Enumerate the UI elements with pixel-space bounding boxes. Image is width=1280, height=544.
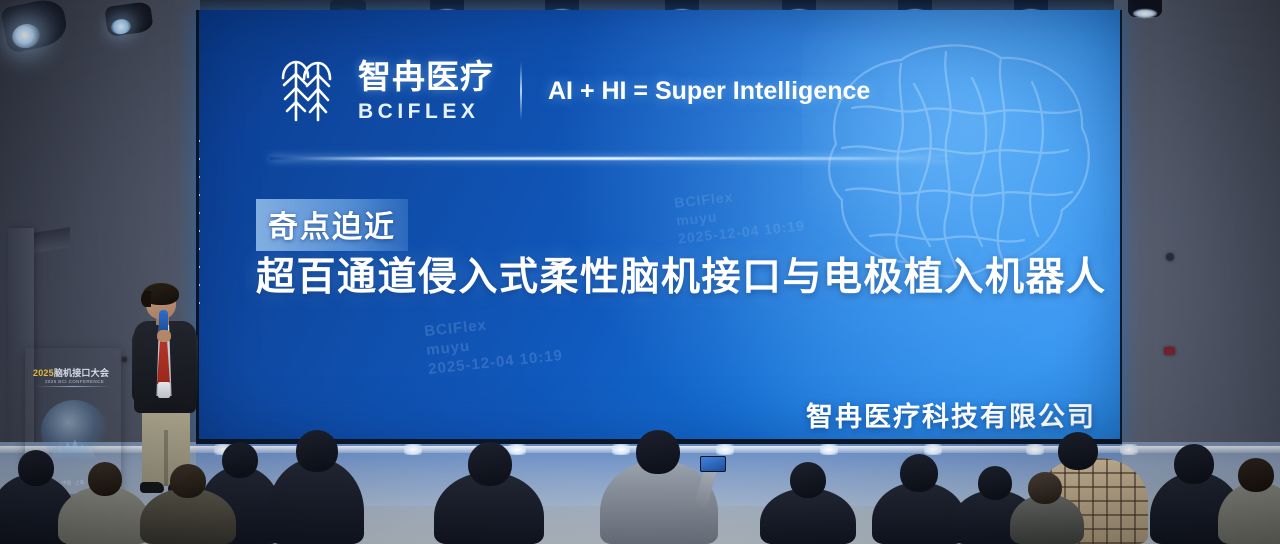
- standee-title-text: 脑机接口大会: [54, 368, 109, 378]
- brand-slogan: AI + HI = Super Intelligence: [548, 77, 870, 106]
- standee-divider: [35, 386, 111, 387]
- slide-eyebrow: 奇点迫近: [256, 199, 408, 251]
- brand-wordmark: 智冉医疗 BCIFLEX: [358, 60, 494, 122]
- audience-head: [1058, 432, 1098, 470]
- emergency-indicator-icon: [1164, 347, 1175, 355]
- standee-subtitle: 2025 BCI CONFERENCE: [45, 379, 104, 384]
- audience-head: [978, 466, 1012, 500]
- smartphone-camera-icon: [700, 456, 726, 472]
- brand-divider: [520, 62, 522, 120]
- slide-eyebrow-wrap: 奇点迫近: [256, 199, 408, 251]
- slide-company-name: 智冉医疗科技有限公司: [806, 395, 1096, 434]
- audience-head: [1174, 444, 1214, 484]
- slide-brand-header: 智冉医疗 BCIFLEX AI + HI = Super Intelligenc…: [274, 58, 870, 124]
- stage-spotlight-icon: [104, 1, 154, 37]
- brain-neuron-logo-icon: [274, 58, 336, 124]
- audience-head: [18, 450, 54, 486]
- right-wall: [1114, 0, 1280, 470]
- slide-watermark: BCIFlexmuyu2025-12-04 10:19: [674, 181, 806, 248]
- slide-main-title: 超百通道侵入式柔性脑机接口与电极植入机器人: [256, 246, 1107, 302]
- wall-sensor-icon: [1166, 253, 1174, 261]
- brand-name-cn: 智冉医疗: [358, 60, 494, 93]
- brand-name-en: BCIFLEX: [358, 101, 494, 122]
- audience-head: [636, 430, 680, 474]
- audience-head: [1238, 458, 1274, 492]
- audience-head: [790, 462, 826, 498]
- led-presentation-screen: 智冉医疗 BCIFLEX AI + HI = Super Intelligenc…: [196, 10, 1122, 442]
- audience-head: [1028, 472, 1062, 504]
- audience-head: [88, 462, 122, 496]
- audience-head: [468, 442, 512, 486]
- slide-watermark: BCIFlexmuyu2025-12-04 10:19: [423, 308, 564, 379]
- audience-head: [170, 464, 206, 498]
- stage-spotlight-icon: [1128, 0, 1162, 17]
- standee-year: 2025: [33, 368, 54, 378]
- audience-head: [222, 442, 258, 478]
- stage-scene: 智冉医疗 BCIFLEX AI + HI = Super Intelligenc…: [0, 0, 1280, 544]
- seated-audience: [0, 430, 1280, 544]
- presenter-hair: [143, 283, 179, 305]
- header-glow-divider: [270, 157, 950, 160]
- standee-title: 2025脑机接口大会: [33, 366, 113, 379]
- audience-head: [900, 454, 938, 492]
- name-badge-icon: [158, 382, 170, 398]
- presenter-hand: [157, 330, 171, 342]
- audience-head: [296, 430, 338, 472]
